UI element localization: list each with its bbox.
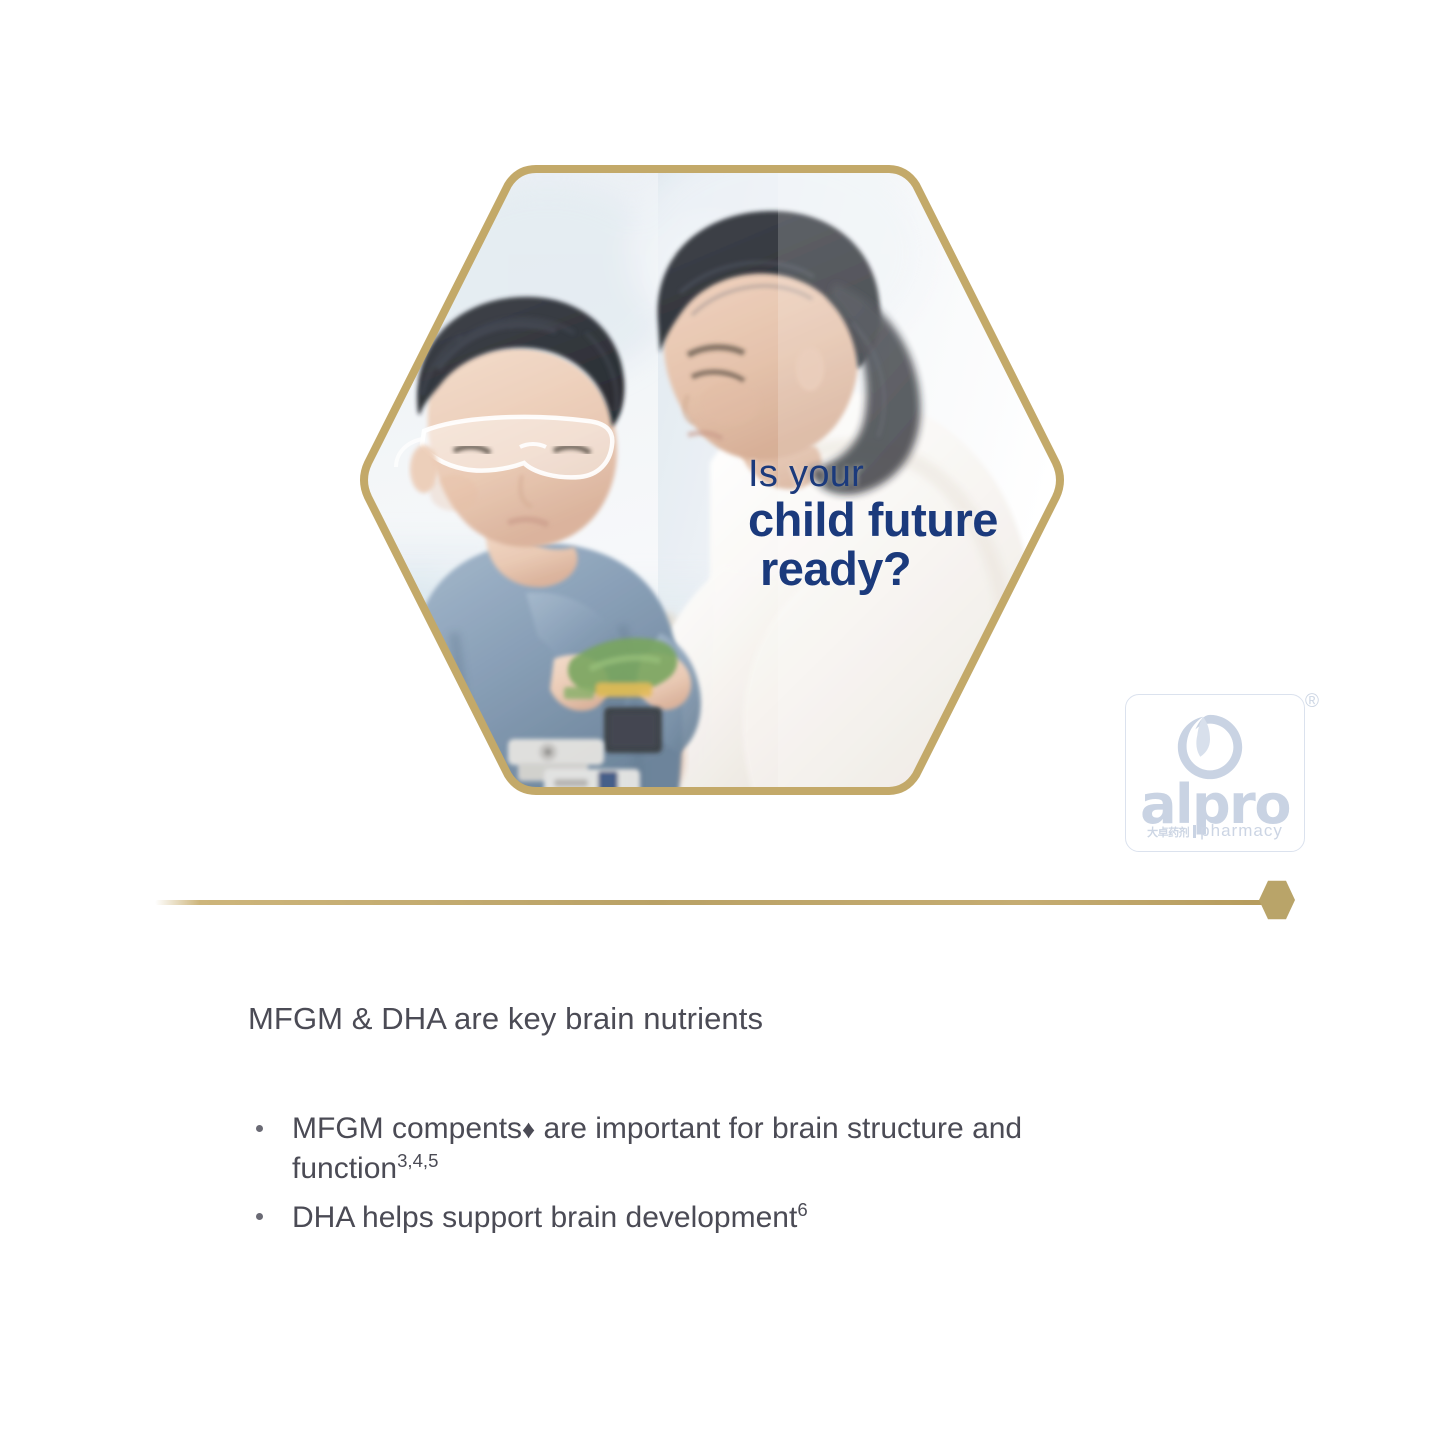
list-item: DHA helps support brain development6 (248, 1198, 1168, 1238)
registered-trademark-icon: ® (1305, 692, 1319, 711)
divider-hexagon-accent-icon (1259, 880, 1295, 920)
list-item: MFGM compents♦ are important for brain s… (248, 1109, 1168, 1189)
bullet-text-before: MFGM compents (292, 1112, 522, 1145)
section-heading: MFGM & DHA are key brain nutrients (248, 1000, 1248, 1037)
hero-hexagon-image (358, 163, 1066, 797)
bullet-superscript: 6 (797, 1199, 807, 1220)
hero-photo-content (358, 163, 1066, 797)
logo-pharmacy-text: pharmacy (1200, 821, 1283, 840)
logo-subtitle: 大卓药剂pharmacy (1133, 822, 1297, 839)
alpro-logo: ® alpro 大卓药剂pharmacy (1125, 694, 1319, 862)
divider-line (155, 900, 1267, 905)
slide-canvas: Is your child future ready? ® alpro 大卓药剂… (0, 0, 1445, 1445)
benefits-list: MFGM compents♦ are important for brain s… (248, 1109, 1248, 1238)
logo-chinese-text: 大卓药剂 (1147, 826, 1189, 839)
gold-divider (155, 880, 1295, 926)
bullet-text-before: DHA helps support brain development (292, 1201, 797, 1234)
content-block: MFGM & DHA are key brain nutrients MFGM … (248, 1000, 1248, 1246)
bullet-dot-icon (256, 1125, 263, 1132)
diamond-marker-icon: ♦ (522, 1116, 535, 1144)
bullet-dot-icon (256, 1213, 263, 1220)
bullet-superscript: 3,4,5 (397, 1150, 438, 1171)
hero-hexagon-svg (358, 163, 1066, 797)
logo-divider (1193, 825, 1196, 838)
